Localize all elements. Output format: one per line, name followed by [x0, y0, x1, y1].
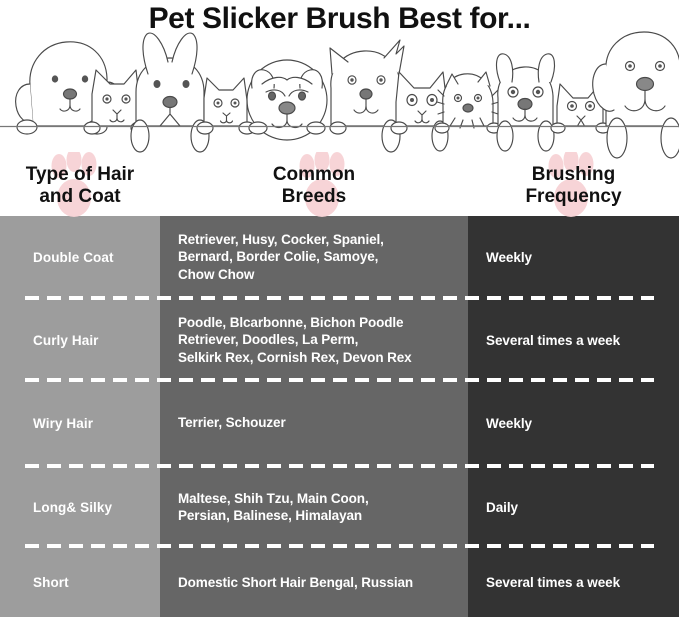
dog-labrador-icon	[593, 32, 679, 158]
header-brushing-frequency: Brushing Frequency	[468, 164, 679, 208]
frequency-label: Several times a week	[486, 575, 620, 590]
cell-frequency: Daily	[468, 468, 679, 546]
dog-shaggy-icon	[435, 72, 501, 133]
cell-hair-type: Wiry Hair	[0, 382, 160, 464]
header-breeds-line1: Common	[160, 164, 468, 186]
table-row: Curly Hair Poodle, Blcarbonne, Bichon Po…	[0, 300, 679, 380]
table-row: Short Domestic Short Hair Bengal, Russia…	[0, 548, 679, 617]
row-divider	[25, 378, 654, 382]
row-divider	[25, 464, 654, 468]
dog-pug-icon	[247, 60, 327, 140]
cell-breeds: Maltese, Shih Tzu, Main Coon, Persian, B…	[160, 468, 468, 546]
header-breeds-line2: Breeds	[160, 186, 468, 208]
cell-hair-type: Curly Hair	[0, 300, 160, 380]
hair-type-label: Wiry Hair	[33, 416, 93, 431]
hair-type-label: Curly Hair	[33, 333, 99, 348]
breeds-line: Bernard, Border Colie, Samoye,	[178, 248, 384, 266]
cell-frequency: Weekly	[468, 382, 679, 464]
dog-tall-ear-icon	[131, 33, 209, 152]
header-type-line2: and Coat	[0, 186, 160, 208]
header-type-line1: Type of Hair	[0, 164, 160, 186]
cat-icon-2	[197, 78, 255, 134]
header-frequency-line2: Frequency	[468, 186, 679, 208]
cell-frequency: Weekly	[468, 216, 679, 298]
dog-pointy-ear-icon	[330, 40, 404, 152]
breeds-line: Poodle, Blcarbonne, Bichon Poodle	[178, 314, 412, 332]
dog-french-bulldog-icon	[497, 54, 555, 151]
cell-breeds: Poodle, Blcarbonne, Bichon Poodle Retrie…	[160, 300, 468, 380]
frequency-label: Daily	[486, 500, 518, 515]
hair-type-label: Double Coat	[33, 250, 114, 265]
breeds-line: Maltese, Shih Tzu, Main Coon,	[178, 490, 369, 508]
cell-hair-type: Short	[0, 548, 160, 617]
cell-frequency: Several times a week	[468, 300, 679, 380]
row-divider	[25, 296, 654, 300]
cell-breeds: Retriever, Husy, Cocker, Spaniel, Bernar…	[160, 216, 468, 298]
breeds-line: Selkirk Rex, Cornish Rex, Devon Rex	[178, 349, 412, 367]
hair-type-label: Short	[33, 575, 69, 590]
comparison-table: Double Coat Retriever, Husy, Cocker, Spa…	[0, 216, 679, 617]
table-rows: Double Coat Retriever, Husy, Cocker, Spa…	[0, 216, 679, 617]
frequency-label: Several times a week	[486, 333, 620, 348]
infographic-page: Pet Slicker Brush Best for...	[0, 0, 679, 617]
table-row: Double Coat Retriever, Husy, Cocker, Spa…	[0, 216, 679, 298]
frequency-label: Weekly	[486, 250, 532, 265]
breeds-line: Domestic Short Hair Bengal, Russian	[178, 574, 413, 592]
table-row: Wiry Hair Terrier, Schouzer Weekly	[0, 382, 679, 464]
breeds-line: Retriever, Husy, Cocker, Spaniel,	[178, 231, 384, 249]
breeds-line: Retriever, Doodles, La Perm,	[178, 331, 412, 349]
column-headers: Type of Hair and Coat Common Breeds Brus…	[0, 158, 679, 216]
hair-type-label: Long& Silky	[33, 500, 112, 515]
animal-illustration-band	[0, 26, 679, 161]
table-row: Long& Silky Maltese, Shih Tzu, Main Coon…	[0, 468, 679, 546]
cell-hair-type: Double Coat	[0, 216, 160, 298]
header-common-breeds: Common Breeds	[160, 164, 468, 208]
breeds-line: Persian, Balinese, Himalayan	[178, 507, 369, 525]
header-type-of-hair-and-coat: Type of Hair and Coat	[0, 164, 160, 208]
frequency-label: Weekly	[486, 416, 532, 431]
breeds-line: Chow Chow	[178, 266, 384, 284]
header-frequency-line1: Brushing	[468, 164, 679, 186]
cell-hair-type: Long& Silky	[0, 468, 160, 546]
cell-breeds: Terrier, Schouzer	[160, 382, 468, 464]
row-divider	[25, 544, 654, 548]
cell-frequency: Several times a week	[468, 548, 679, 617]
cell-breeds: Domestic Short Hair Bengal, Russian	[160, 548, 468, 617]
breeds-line: Terrier, Schouzer	[178, 414, 286, 432]
